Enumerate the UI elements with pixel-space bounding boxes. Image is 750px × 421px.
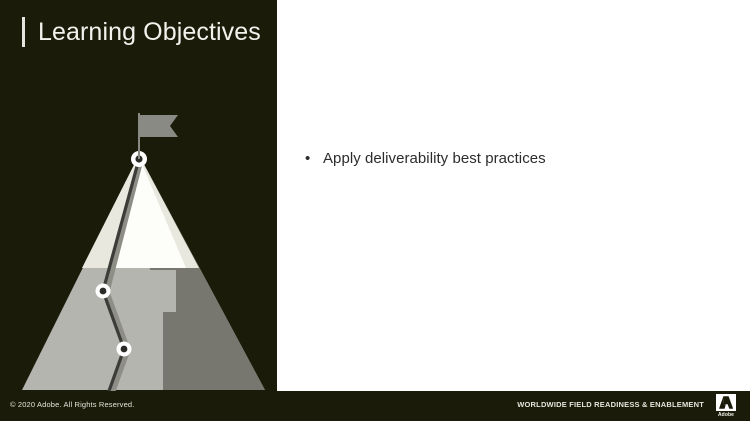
program-label: WORLDWIDE FIELD READINESS & ENABLEMENT [517, 400, 704, 409]
mountain-graphic [0, 0, 277, 391]
presentation-slide: Learning Objectives Apply deliverability… [0, 0, 750, 421]
mountain-illustration [0, 0, 277, 391]
page-title: Learning Objectives [22, 12, 261, 52]
waypoint-marker-3-core [121, 346, 128, 353]
title-label: Learning Objectives [38, 20, 261, 45]
slide-left-panel: Learning Objectives [0, 0, 277, 391]
slide-content-area: Apply deliverability best practices [277, 0, 750, 391]
summit-flag-icon [140, 115, 178, 137]
adobe-wordmark: Adobe [718, 412, 734, 418]
bullet-icon [305, 148, 323, 170]
slide-footer: © 2020 Adobe. All Rights Reserved. WORLD… [0, 391, 750, 421]
waypoint-marker-2-core [100, 288, 107, 295]
title-accent-bar [22, 17, 25, 47]
list-item-label: Apply deliverability best practices [323, 148, 546, 170]
list-item: Apply deliverability best practices [305, 148, 726, 170]
learning-objectives-list: Apply deliverability best practices [305, 148, 726, 182]
adobe-logo: Adobe [710, 393, 742, 419]
flag-pole [138, 113, 140, 159]
adobe-a-icon [716, 394, 736, 411]
copyright-label: © 2020 Adobe. All Rights Reserved. [10, 400, 134, 409]
